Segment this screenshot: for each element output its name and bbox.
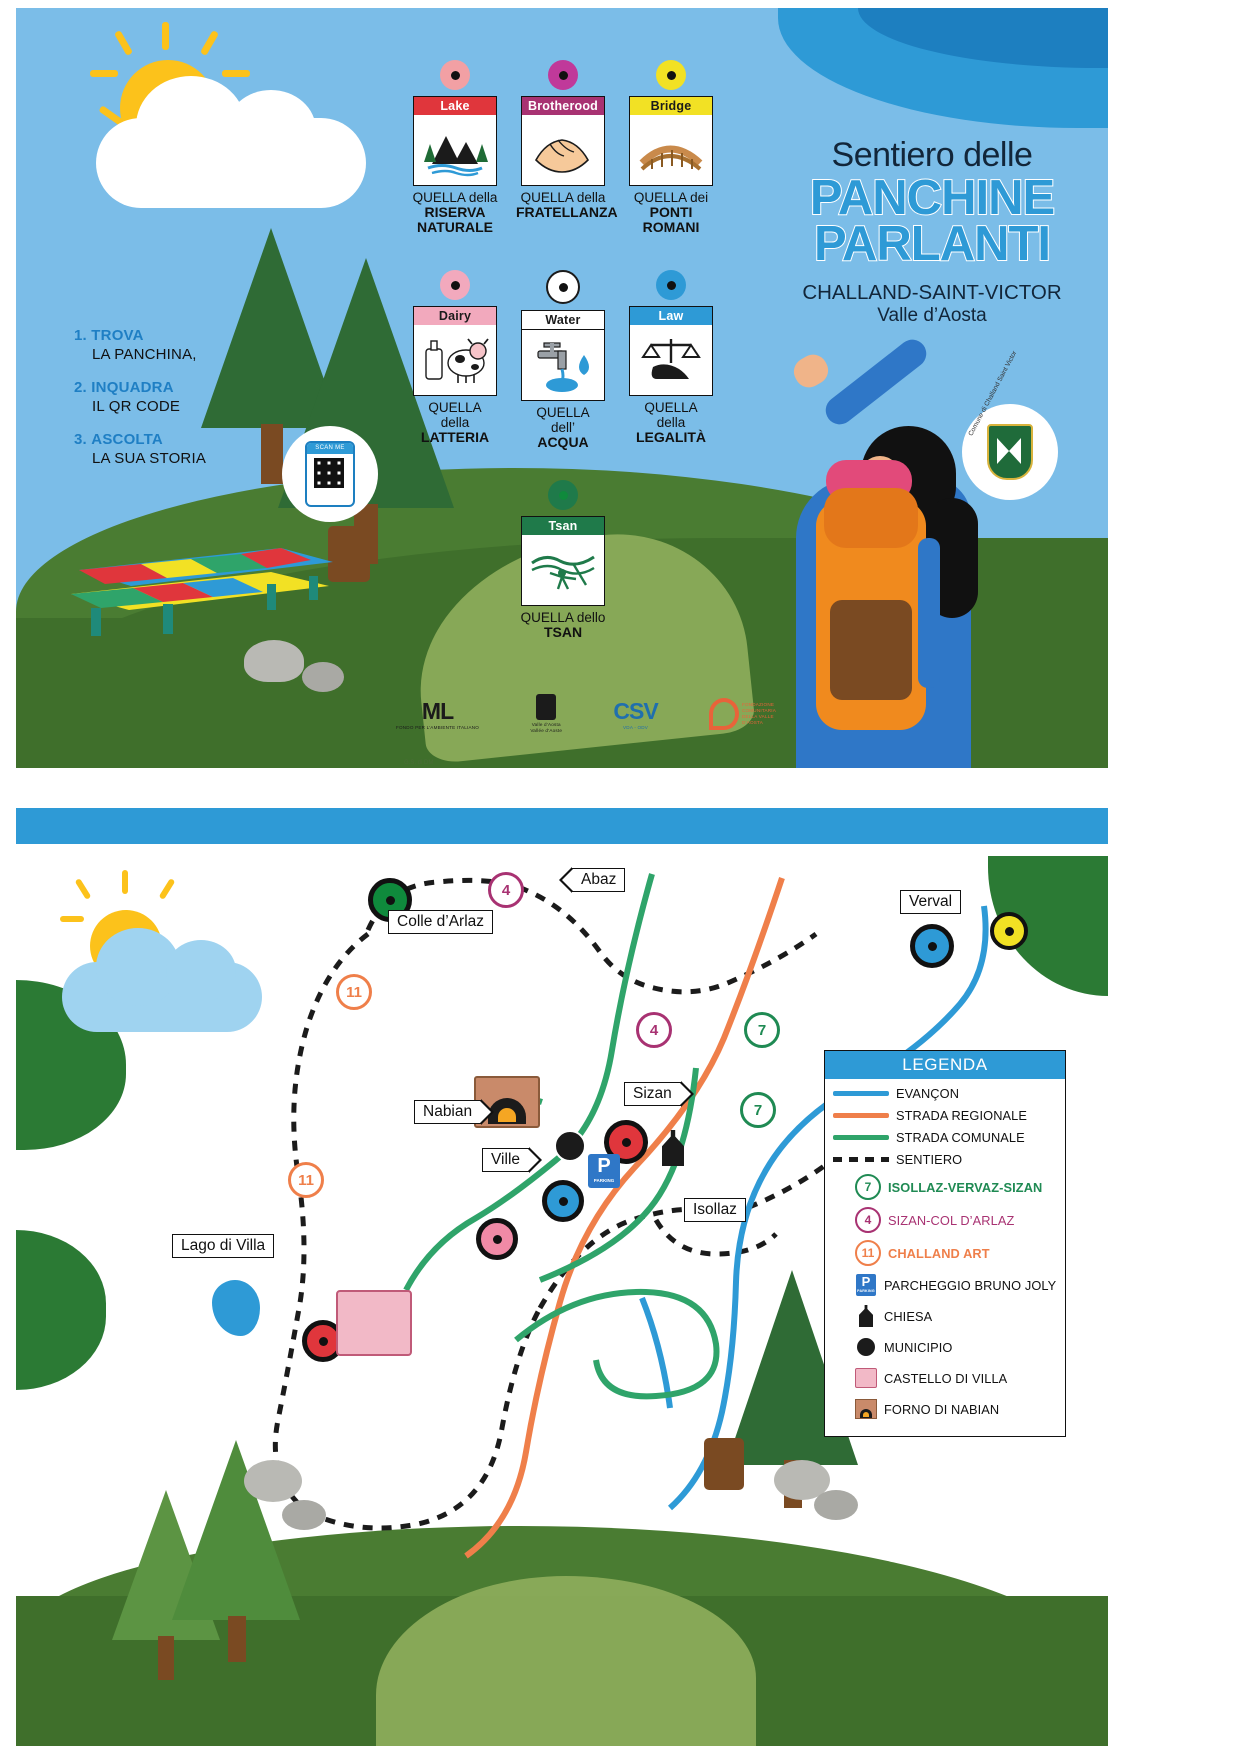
bench-sign: Tsan [521, 516, 605, 606]
bench-marker-dairy[interactable] [476, 1218, 518, 1260]
map-label-ville[interactable]: Ville [482, 1148, 529, 1172]
caption-mid: della [408, 415, 502, 430]
hiker-hand [789, 350, 833, 393]
legend-label: SENTIERO [896, 1152, 962, 1167]
castle-icon [855, 1366, 877, 1390]
handshake-icon [522, 115, 604, 185]
bench-marker-dot [546, 270, 580, 304]
sign-label: Bridge [630, 97, 712, 115]
municipal-road-line-icon [833, 1135, 889, 1140]
parking-sub: PARKING [856, 1289, 876, 1293]
sign-label: Dairy [414, 307, 496, 325]
sponsor-caption: FONDAZIONE COMUNITARIA DELLA VALLE D’AOS… [742, 702, 776, 726]
legend-row: STRADA REGIONALE [833, 1108, 1057, 1123]
map-label-verval[interactable]: Verval [900, 890, 961, 914]
bench-marker-dot [440, 270, 470, 300]
river-line-icon [833, 1091, 889, 1096]
caption-top: QUELLA della [413, 190, 498, 205]
instruction-step: 2. INQUADRA IL QR CODE [74, 378, 304, 416]
map-label-lago-di-villa[interactable]: Lago di Villa [172, 1234, 274, 1258]
step-text: LA SUA STORIA [74, 449, 304, 468]
bench-marker-dot [656, 60, 686, 90]
route-badge-icon: 7 [855, 1174, 881, 1200]
sign-label: Tsan [522, 517, 604, 535]
legend-label: STRADA COMUNALE [896, 1130, 1025, 1145]
map-label-nabian[interactable]: Nabian [414, 1100, 481, 1124]
legend-title: LEGENDA [825, 1051, 1065, 1079]
legend-route-row: 11 CHALLAND ART [833, 1240, 1057, 1266]
caption-bold: RISERVANATURALE [408, 205, 502, 235]
route-badge-icon: 11 [855, 1240, 881, 1266]
sponsor-logo: FONDAZIONE COMUNITARIA DELLA VALLE D’AOS… [709, 698, 776, 730]
bench-marker-dot [548, 60, 578, 90]
legend-route-row: 7 ISOLLAZ-VERVAZ-SIZAN [833, 1174, 1057, 1200]
step-keyword: ASCOLTA [91, 431, 163, 448]
legend-row: EVANÇON [833, 1086, 1057, 1101]
caption-top: QUELLA [644, 400, 697, 415]
poster-title-block: Sentiero delle PANCHINE PARLANTI CHALLAN… [772, 136, 1092, 327]
rock-decoration [302, 662, 344, 692]
caption-top: QUELLA della [521, 190, 606, 205]
legend-label: FORNO DI NABIAN [884, 1402, 999, 1417]
sponsor-logos: ML FONDO PER L’AMBIENTE ITALIANO Valle d… [396, 684, 776, 744]
scan-me-label: SCAN ME [307, 443, 353, 454]
bench-card: Bridge QUELLA [624, 60, 718, 235]
bench-marker-dot [440, 60, 470, 90]
legend-label: EVANÇON [896, 1086, 959, 1101]
title-line-1: Sentiero delle [772, 136, 1092, 175]
legend-body: EVANÇON STRADA REGIONALE STRADA COMUNALE… [825, 1079, 1065, 1436]
instructions-list: 1. TROVA LA PANCHINA, 2. INQUADRA IL QR … [74, 326, 304, 482]
sun-ray-icon [162, 22, 169, 50]
sun-ray-icon [90, 70, 118, 77]
step-keyword: INQUADRA [91, 379, 173, 396]
title-line-2: PANCHINE [772, 175, 1092, 221]
scales-of-justice-icon [630, 325, 712, 395]
map-legend: LEGENDA EVANÇON STRADA REGIONALE STRADA … [824, 1050, 1066, 1437]
sign-label: Law [630, 307, 712, 325]
bench-card: Lake QUELLA della RISERV [408, 60, 502, 235]
bench-sign: Dairy [413, 306, 497, 396]
tree-stump [704, 1438, 744, 1490]
top-poster: 1. TROVA LA PANCHINA, 2. INQUADRA IL QR … [16, 8, 1108, 768]
bench-sign: Water [521, 310, 605, 401]
tap-water-icon [522, 330, 604, 400]
step-number: 1. [74, 327, 87, 344]
caption-bold: FRATELLANZA [516, 205, 610, 220]
bench-caption: QUELLA dei PONTIROMANI [624, 190, 718, 235]
rock-decoration [244, 1460, 302, 1502]
parking-glyph: PPARKING [856, 1274, 876, 1296]
sponsor-logo: Valle d’Aosta Vallée d’Aoste [530, 694, 562, 734]
hiker-illustration [776, 338, 1086, 768]
map-label-sizan[interactable]: Sizan [624, 1082, 681, 1106]
bench-caption: QUELLA della FRATELLANZA [516, 190, 610, 220]
qr-scan-bubble: SCAN ME [282, 426, 378, 522]
instruction-step: 3. ASCOLTA LA SUA STORIA [74, 430, 304, 468]
sponsor-caption: VDA - ODV [613, 725, 657, 731]
bench-caption: QUELLA dell’ ACQUA [516, 405, 610, 450]
painted-bench [71, 528, 341, 638]
route-badge-4-sizan[interactable]: 4 [636, 1012, 672, 1048]
legend-label: SIZAN-COL D’ARLAZ [888, 1213, 1014, 1228]
sponsor-logo: CSV VDA - ODV [613, 698, 657, 731]
mountain-lake-icon [414, 115, 496, 185]
route-badge-4[interactable]: 4 [488, 872, 524, 908]
legend-label: MUNICIPIO [884, 1340, 952, 1355]
legend-place-row: FORNO DI NABIAN [833, 1397, 1057, 1421]
bench-marker-bridge[interactable] [990, 912, 1028, 950]
bench-card: Water QUELLA [516, 270, 610, 450]
foundation-mark-icon [709, 698, 739, 730]
route-badge-icon: 4 [855, 1207, 881, 1233]
bench-sign: Brotherood [521, 96, 605, 186]
regional-road-line-icon [833, 1113, 889, 1118]
rock-decoration [814, 1490, 858, 1520]
route-badge-7-lower[interactable]: 7 [740, 1092, 776, 1128]
bench-caption: QUELLA della LATTERIA [408, 400, 502, 445]
sponsor-mark: ML [396, 698, 479, 725]
rock-decoration [282, 1500, 326, 1530]
bench-sign: Law [629, 306, 713, 396]
step-number: 3. [74, 431, 87, 448]
bench-card: Law QUELLA della LEGALITÀ [624, 270, 718, 445]
hiker-backpack-strap [918, 538, 940, 688]
map-label-abaz[interactable]: Abaz [572, 868, 625, 892]
hiker-arm [820, 334, 932, 430]
caption-bold: PONTIROMANI [624, 205, 718, 235]
sponsor-logo: ML FONDO PER L’AMBIENTE ITALIANO [396, 698, 479, 731]
map-label-colle-darlaz[interactable]: Colle d’Arlaz [388, 910, 493, 934]
vda-emblem-icon [536, 694, 556, 720]
route-badge-11[interactable]: 11 [336, 974, 372, 1010]
bench-card: Tsan QUELLA dello TSAN [516, 480, 610, 640]
bench-sign: Bridge [629, 96, 713, 186]
sun-ray-icon [222, 70, 250, 77]
church-icon [855, 1304, 877, 1328]
parking-icon[interactable]: PPARKING [588, 1154, 620, 1188]
legend-row: SENTIERO [833, 1152, 1057, 1167]
poster-page: 1. TROVA LA PANCHINA, 2. INQUADRA IL QR … [0, 0, 1240, 1754]
sponsor-mark: CSV [613, 698, 657, 725]
sponsor-caption: Valle d’Aosta Vallée d’Aoste [530, 722, 562, 734]
sign-label: Brotherood [522, 97, 604, 115]
townhall-icon[interactable] [554, 1130, 586, 1162]
caption-top: QUELLA dello [521, 610, 606, 625]
route-badge-7-upper[interactable]: 7 [744, 1012, 780, 1048]
tsan-player-icon [522, 535, 604, 605]
rock-decoration [244, 640, 304, 682]
caption-mid: dell’ [516, 420, 610, 435]
caption-top: QUELLA dei [634, 190, 708, 205]
bench-caption: QUELLA della LEGALITÀ [624, 400, 718, 445]
step-number: 2. [74, 379, 87, 396]
bench-marker-law[interactable] [542, 1180, 584, 1222]
caption-mid: della [624, 415, 718, 430]
bench-caption: QUELLA della RISERVANATURALE [408, 190, 502, 235]
instruction-step: 1. TROVA LA PANCHINA, [74, 326, 304, 364]
phone-icon: SCAN ME [305, 441, 355, 507]
legend-place-row: CASTELLO DI VILLA [833, 1366, 1057, 1390]
sun-ray-icon [200, 30, 219, 56]
bench-marker-dot [656, 270, 686, 300]
step-text: LA PANCHINA, [74, 345, 304, 364]
crest-caption: Comune di Challand Saint Victor [962, 404, 1058, 500]
legend-label: PARCHEGGIO BRUNO JOLY [884, 1278, 1056, 1293]
title-line-3: PARLANTI [772, 221, 1092, 267]
bench-card: Brotherood QUELLA della FRATELLANZA [516, 60, 610, 220]
legend-label: CHIESA [884, 1309, 932, 1324]
castle-icon[interactable] [336, 1290, 412, 1356]
map-label-isollaz[interactable]: Isollaz [684, 1198, 746, 1222]
townhall-icon [855, 1335, 877, 1359]
parking-icon: PPARKING [855, 1273, 877, 1297]
sponsor-caption: FONDO PER L’AMBIENTE ITALIANO [396, 725, 479, 731]
bench-card: Dairy [408, 270, 502, 445]
legend-label: CASTELLO DI VILLA [884, 1371, 1007, 1386]
caption-bold: LEGALITÀ [624, 430, 718, 445]
legend-place-row: PPARKING PARCHEGGIO BRUNO JOLY [833, 1273, 1057, 1297]
caption-top: QUELLA [536, 405, 589, 420]
bench-sign: Lake [413, 96, 497, 186]
bench-caption: QUELLA dello TSAN [516, 610, 610, 640]
sun-ray-icon [114, 30, 133, 56]
milk-cow-icon [414, 325, 496, 395]
hiker-backpack-lid [824, 488, 918, 548]
poster-region: Valle d’Aosta [772, 305, 1092, 327]
step-text: IL QR CODE [74, 397, 304, 416]
qr-code-icon [314, 458, 344, 488]
cloud-icon [96, 118, 366, 208]
caption-bold: ACQUA [516, 435, 610, 450]
sign-label: Water [522, 311, 604, 330]
trail-dashed-line-icon [833, 1157, 889, 1162]
legend-route-row: 4 SIZAN-COL D’ARLAZ [833, 1207, 1057, 1233]
bench-marker-water[interactable] [910, 924, 954, 968]
bench-marker-dot [548, 480, 578, 510]
oven-icon [855, 1397, 877, 1421]
step-keyword: TROVA [91, 327, 143, 344]
caption-bold: LATTERIA [408, 430, 502, 445]
hiker-backpack-pocket [830, 600, 912, 700]
legend-label: ISOLLAZ-VERVAZ-SIZAN [888, 1180, 1042, 1195]
legend-place-row: CHIESA [833, 1304, 1057, 1328]
caption-bold: TSAN [516, 625, 610, 640]
poster-subtitle: CHALLAND-SAINT-VICTOR [772, 281, 1092, 305]
route-badge-11-lower[interactable]: 11 [288, 1162, 324, 1198]
caption-top: QUELLA [428, 400, 481, 415]
legend-label: STRADA REGIONALE [896, 1108, 1027, 1123]
legend-place-row: MUNICIPIO [833, 1335, 1057, 1359]
legend-label: CHALLAND ART [888, 1246, 990, 1261]
legend-row: STRADA COMUNALE [833, 1130, 1057, 1145]
bridge-icon [630, 115, 712, 185]
sign-label: Lake [414, 97, 496, 115]
poster-credit: G.S. di DM [404, 760, 433, 766]
